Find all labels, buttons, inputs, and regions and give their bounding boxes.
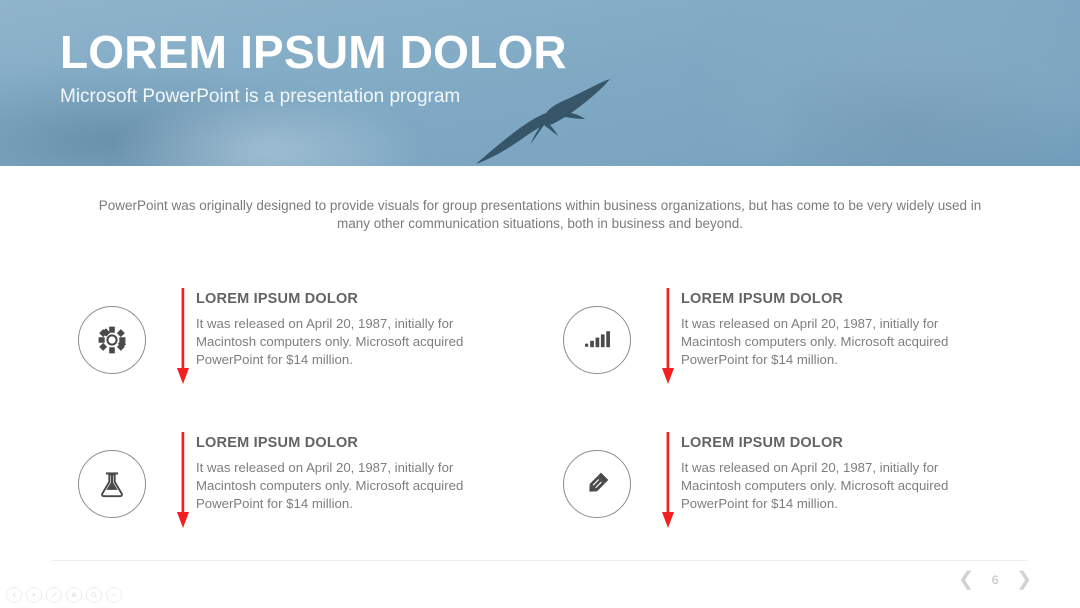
player-toolbar [6, 587, 122, 603]
feature-description: It was released on April 20, 1987, initi… [681, 315, 971, 370]
feature-body: LOREM IPSUM DOLOR It was released on Apr… [196, 432, 488, 514]
down-arrow-icon [176, 288, 190, 386]
page-title: LOREM IPSUM DOLOR [60, 28, 680, 76]
feature-body: LOREM IPSUM DOLOR It was released on Apr… [681, 432, 973, 514]
hero-banner: LOREM IPSUM DOLOR Microsoft PowerPoint i… [0, 0, 1080, 166]
feature-description: It was released on April 20, 1987, initi… [681, 459, 971, 514]
cloud-wisp-right-lower [790, 60, 1050, 166]
previous-page-button[interactable]: ❮ [958, 570, 974, 589]
flask-icon [78, 450, 146, 518]
page-navigation: ❮ 6 ❯ [958, 570, 1032, 589]
footer-divider [52, 560, 1027, 561]
feature-item[interactable]: LOREM IPSUM DOLOR It was released on Apr… [78, 288, 488, 408]
feature-description: It was released on April 20, 1987, initi… [196, 459, 486, 514]
down-arrow-icon [661, 432, 675, 530]
hero-text-block: LOREM IPSUM DOLOR Microsoft PowerPoint i… [60, 28, 680, 108]
previous-icon[interactable] [6, 587, 22, 603]
page-subtitle: Microsoft PowerPoint is a presentation p… [60, 86, 680, 108]
feature-description: It was released on April 20, 1987, initi… [196, 315, 486, 370]
feature-item[interactable]: LOREM IPSUM DOLOR It was released on Apr… [563, 288, 973, 408]
feature-title: LOREM IPSUM DOLOR [681, 291, 973, 307]
play-icon[interactable] [26, 587, 42, 603]
intro-paragraph: PowerPoint was originally designed to pr… [90, 197, 990, 233]
print-icon[interactable] [66, 587, 82, 603]
feature-body: LOREM IPSUM DOLOR It was released on Apr… [196, 288, 488, 370]
gear-icon [78, 306, 146, 374]
down-arrow-icon [661, 288, 675, 386]
pen-icon[interactable] [46, 587, 62, 603]
feature-item[interactable]: LOREM IPSUM DOLOR It was released on Apr… [78, 432, 488, 552]
feature-grid: LOREM IPSUM DOLOR It was released on Apr… [78, 288, 1002, 552]
menu-icon[interactable] [106, 587, 122, 603]
feature-title: LOREM IPSUM DOLOR [196, 435, 488, 451]
page-number: 6 [990, 573, 1000, 587]
next-page-button[interactable]: ❯ [1016, 570, 1032, 589]
feature-row-bottom: LOREM IPSUM DOLOR It was released on Apr… [78, 432, 1002, 552]
pencil-icon [563, 450, 631, 518]
search-icon[interactable] [86, 587, 102, 603]
feature-row-top: LOREM IPSUM DOLOR It was released on Apr… [78, 288, 1002, 408]
feature-body: LOREM IPSUM DOLOR It was released on Apr… [681, 288, 973, 370]
feature-title: LOREM IPSUM DOLOR [681, 435, 973, 451]
feature-item[interactable]: LOREM IPSUM DOLOR It was released on Apr… [563, 432, 973, 552]
bar-chart-icon [563, 306, 631, 374]
feature-title: LOREM IPSUM DOLOR [196, 291, 488, 307]
down-arrow-icon [176, 432, 190, 530]
